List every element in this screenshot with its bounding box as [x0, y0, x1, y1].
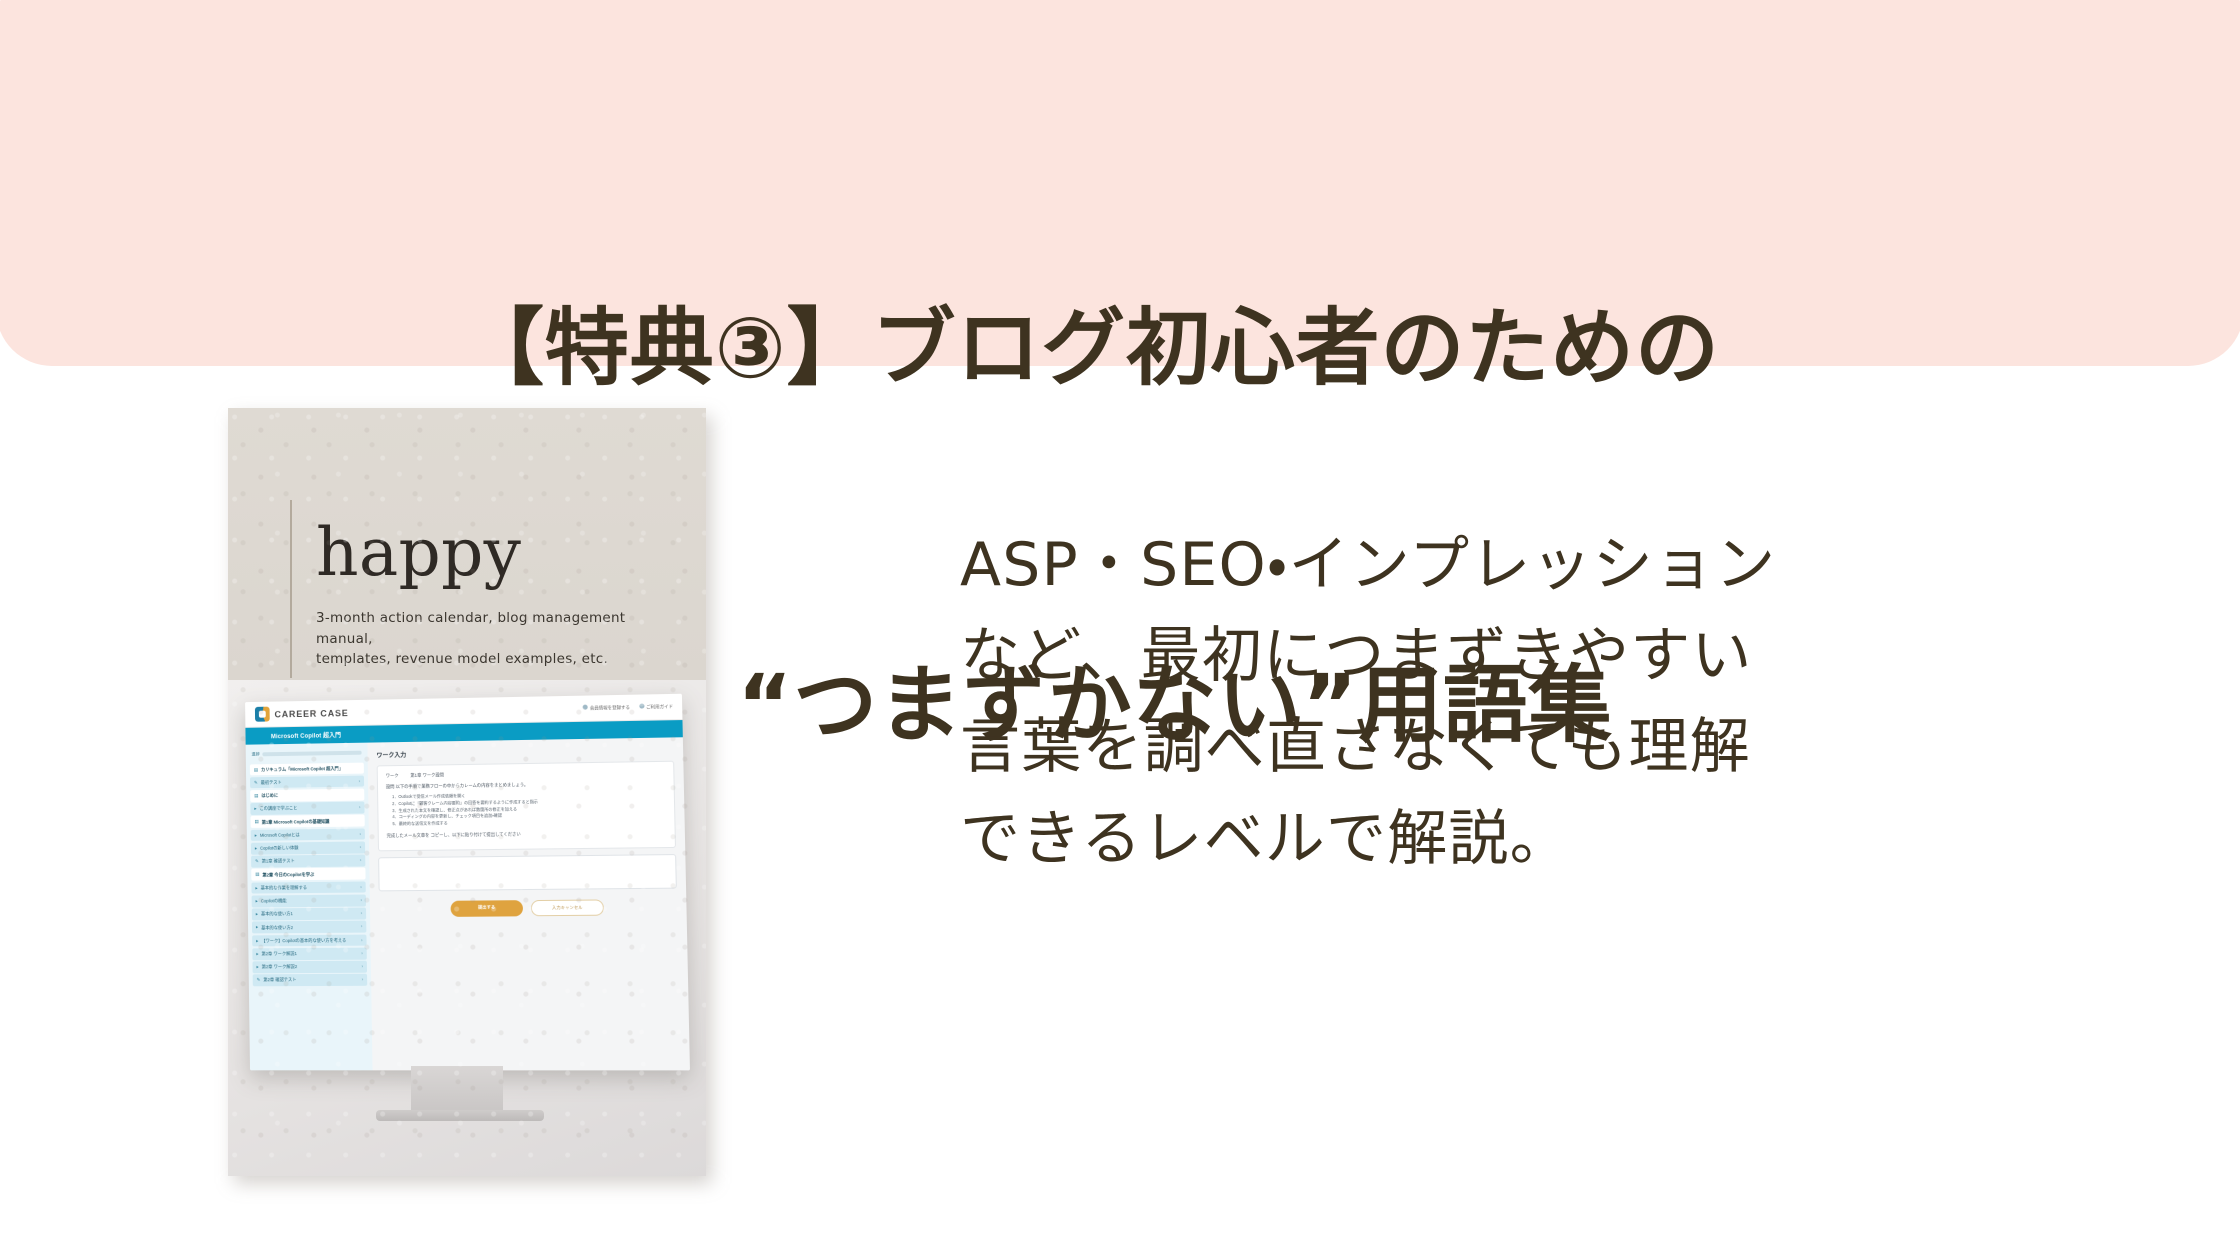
sidebar-item-label: 最初テスト	[261, 780, 282, 786]
monitor-stand-base	[376, 1110, 544, 1121]
sidebar-item-label: 第2章 ワーク解説1	[261, 951, 297, 957]
slide-root: 【特典③】ブログ初心者のための “つまずかない”用語集 happy 3-mont…	[0, 0, 2240, 1260]
pencil-icon: ✎	[255, 859, 259, 865]
sidebar-section-label: 第1章 Microsoft Copilotの基礎知識	[262, 819, 330, 825]
progress-track	[263, 751, 362, 757]
cover-subtitle-line-1: 3-month action calendar, blog management…	[316, 608, 656, 649]
play-circle-icon: ▸	[254, 806, 256, 812]
sidebar-item-label: 第1章 確認テスト	[262, 859, 295, 865]
work-footer-note: 完成したメール文章を コピーし、以下に貼り付けて提出してください	[387, 829, 667, 839]
sidebar-item-label: 基本的な使い方1	[261, 911, 293, 917]
sidebar-section: ▤ カリキュラム「Microsoft Copilot 超入門」	[250, 762, 364, 775]
app-logo-text: CAREER CASE	[274, 708, 348, 719]
user-icon	[583, 705, 588, 710]
app-screenshot-area: CAREER CASE 会員情報を登録する ご利用ガイド Microsoft C…	[228, 680, 706, 1176]
top-link-register-label: 会員情報を登録する	[590, 705, 630, 711]
main-heading: ワーク入力	[376, 746, 674, 760]
sidebar-section: ▤ 第1章 Microsoft Copilotの基礎知識	[251, 815, 365, 828]
body-description: ASP・SEO・インプレッション など、最初につまずきやすい 言葉を調べ直さなく…	[960, 520, 2080, 885]
play-circle-icon: ▸	[256, 938, 258, 944]
work-prompt: 設問 以下の手順で業務フローの中からカレームの内容をまとめましょう。	[386, 780, 666, 791]
course-main-content: ワーク入力 ワーク 第1章 ワーク設問 設問 以下の手順で業務フローの中からカレ…	[367, 737, 690, 1070]
book-icon: ▤	[254, 793, 258, 799]
sidebar-item-lesson[interactable]: ▸ Microsoft Copilotとは ›	[251, 828, 365, 841]
chevron-right-icon: ›	[359, 778, 361, 784]
play-circle-icon: ▸	[255, 832, 257, 838]
sidebar-item-lesson[interactable]: ▸ 基本的な作業を理解する ›	[251, 881, 365, 894]
sidebar-item-label: 第2章 ワーク解説2	[262, 964, 298, 970]
sidebar-item-lesson[interactable]: ▸ 第2章 ワーク解説2 ›	[252, 961, 367, 973]
monitor-stand	[411, 1066, 503, 1112]
sidebar-item-lesson[interactable]: ✎ 第2章 確認テスト ›	[253, 974, 368, 986]
top-link-register[interactable]: 会員情報を登録する	[583, 704, 630, 712]
cancel-button[interactable]: 入力キャンセル	[531, 899, 604, 916]
play-circle-icon: ▸	[255, 885, 257, 891]
chevron-right-icon: ›	[359, 805, 361, 811]
chevron-right-icon: ›	[361, 964, 363, 970]
work-card: ワーク 第1章 ワーク設問 設問 以下の手順で業務フローの中からカレームの内容を…	[377, 761, 676, 852]
pencil-icon: ✎	[254, 780, 258, 786]
chevron-right-icon: ›	[360, 897, 362, 903]
chevron-right-icon: ›	[362, 977, 364, 983]
pencil-icon: ✎	[257, 978, 261, 984]
top-link-guide[interactable]: ご利用ガイド	[639, 703, 673, 711]
sidebar-item-lesson[interactable]: ▸ 第2章 ワーク解説1 ›	[252, 947, 367, 959]
sidebar-item-lesson[interactable]: ✎ 第1章 確認テスト ›	[251, 855, 365, 868]
sidebar-item-lesson[interactable]: ▸ Copilotの機能 ›	[252, 894, 366, 907]
answer-textarea[interactable]	[378, 854, 677, 891]
course-title: Microsoft Copilot 超入門	[271, 730, 341, 740]
play-circle-icon: ▸	[255, 846, 257, 852]
work-meta-row: ワーク 第1章 ワーク設問	[386, 769, 666, 779]
sidebar-section: ▤ はじめに	[250, 789, 364, 802]
sidebar-item-lesson[interactable]: ▸ この講座で学ぶこと ›	[250, 802, 364, 815]
sidebar-item-lesson[interactable]: ▸ 【ワーク】Copilotの基本的な使い方を考える ›	[252, 934, 367, 946]
course-sidebar[interactable]: 進捗 ▤ カリキュラム「Microsoft Copilot 超入門」 ✎	[246, 743, 373, 1071]
work-steps: 1．Outlookで受信メール作成依頼を開く 2．Copilotに「顧客クレーム…	[386, 791, 666, 828]
sidebar-item-lesson[interactable]: ▸ Copilotの新しい体験 ›	[251, 841, 365, 854]
top-link-guide-label: ご利用ガイド	[646, 704, 673, 710]
sidebar-item-label: 第2章 確認テスト	[263, 978, 296, 984]
chevron-right-icon: ›	[361, 950, 363, 956]
book-icon: ▤	[254, 819, 258, 825]
body-line-3: 言葉を調べ直さなくても理解	[960, 702, 2080, 793]
app-logo[interactable]: CAREER CASE	[255, 705, 349, 722]
sidebar-item-label: この講座で学ぶこと	[259, 806, 297, 812]
body-line-1: ASP・SEO・インプレッション	[960, 520, 2080, 611]
career-case-logo-icon	[255, 707, 270, 722]
book-icon: ▤	[254, 767, 258, 773]
chevron-right-icon: ›	[360, 858, 362, 864]
sidebar-item-label: Copilotの新しい体験	[260, 845, 298, 851]
chevron-right-icon: ›	[360, 844, 362, 850]
body-line-2: など、最初につまずきやすい	[960, 611, 2080, 702]
sidebar-item-label: 基本的な作業を理解する	[261, 885, 307, 891]
sidebar-item-label: 【ワーク】Copilotの基本的な使い方を考える	[261, 937, 346, 943]
chevron-right-icon: ›	[361, 911, 363, 917]
ebook-cover: happy 3-month action calendar, blog mana…	[228, 408, 706, 1176]
product-mockup: happy 3-month action calendar, blog mana…	[228, 408, 706, 1176]
sidebar-item-lesson[interactable]: ▸ 基本的な使い方1 ›	[252, 908, 366, 921]
progress-row: 進捗	[246, 747, 368, 763]
submit-button[interactable]: 提出する	[451, 900, 524, 917]
cover-subtitle-line-2: templates, revenue model examples, etc.	[316, 649, 656, 670]
sidebar-item-lesson[interactable]: ✎ 最初テスト ›	[250, 775, 364, 788]
page-title-line-1: 【特典③】ブログ初心者のための	[0, 289, 2180, 408]
sidebar-item-label: Microsoft Copilotとは	[260, 832, 300, 838]
help-icon	[639, 704, 644, 709]
sidebar-item-lesson[interactable]: ▸ 基本的な使い方2 ›	[252, 921, 366, 934]
book-icon: ▤	[255, 872, 259, 878]
chevron-right-icon: ›	[359, 831, 361, 837]
play-circle-icon: ▸	[256, 898, 258, 904]
chevron-right-icon: ›	[360, 884, 362, 890]
sidebar-section-label: はじめに	[261, 793, 278, 799]
play-circle-icon: ▸	[256, 951, 258, 957]
app-body: 進捗 ▤ カリキュラム「Microsoft Copilot 超入門」 ✎	[246, 737, 690, 1070]
work-meta-value: 第1章 ワーク設問	[410, 772, 444, 779]
sidebar-section: ▤ 第2章 今日のCopilotを学ぶ	[251, 868, 365, 881]
monitor-screen: CAREER CASE 会員情報を登録する ご利用ガイド Microsoft C…	[245, 694, 690, 1071]
progress-label: 進捗	[252, 751, 260, 757]
cover-brand-wordmark: happy	[316, 520, 521, 586]
app-top-right-links: 会員情報を登録する ご利用ガイド	[583, 703, 673, 712]
sidebar-section-label: カリキュラム「Microsoft Copilot 超入門」	[261, 766, 343, 773]
cover-vertical-rule	[290, 500, 292, 678]
chevron-right-icon: ›	[361, 924, 363, 930]
sidebar-item-label: 基本的な使い方2	[261, 925, 293, 931]
sidebar-section-label: 第2章 今日のCopilotを学ぶ	[262, 872, 314, 878]
play-circle-icon: ▸	[256, 911, 258, 917]
work-meta-label: ワーク	[386, 773, 399, 779]
chevron-right-icon: ›	[361, 937, 363, 943]
cover-subtitle: 3-month action calendar, blog management…	[316, 608, 656, 670]
sidebar-item-label: Copilotの機能	[261, 898, 287, 904]
work-button-row: 提出する 入力キャンセル	[379, 897, 678, 918]
body-line-4: できるレベルで解説。	[960, 794, 2080, 885]
play-circle-icon: ▸	[256, 925, 258, 931]
play-circle-icon: ▸	[256, 964, 258, 970]
